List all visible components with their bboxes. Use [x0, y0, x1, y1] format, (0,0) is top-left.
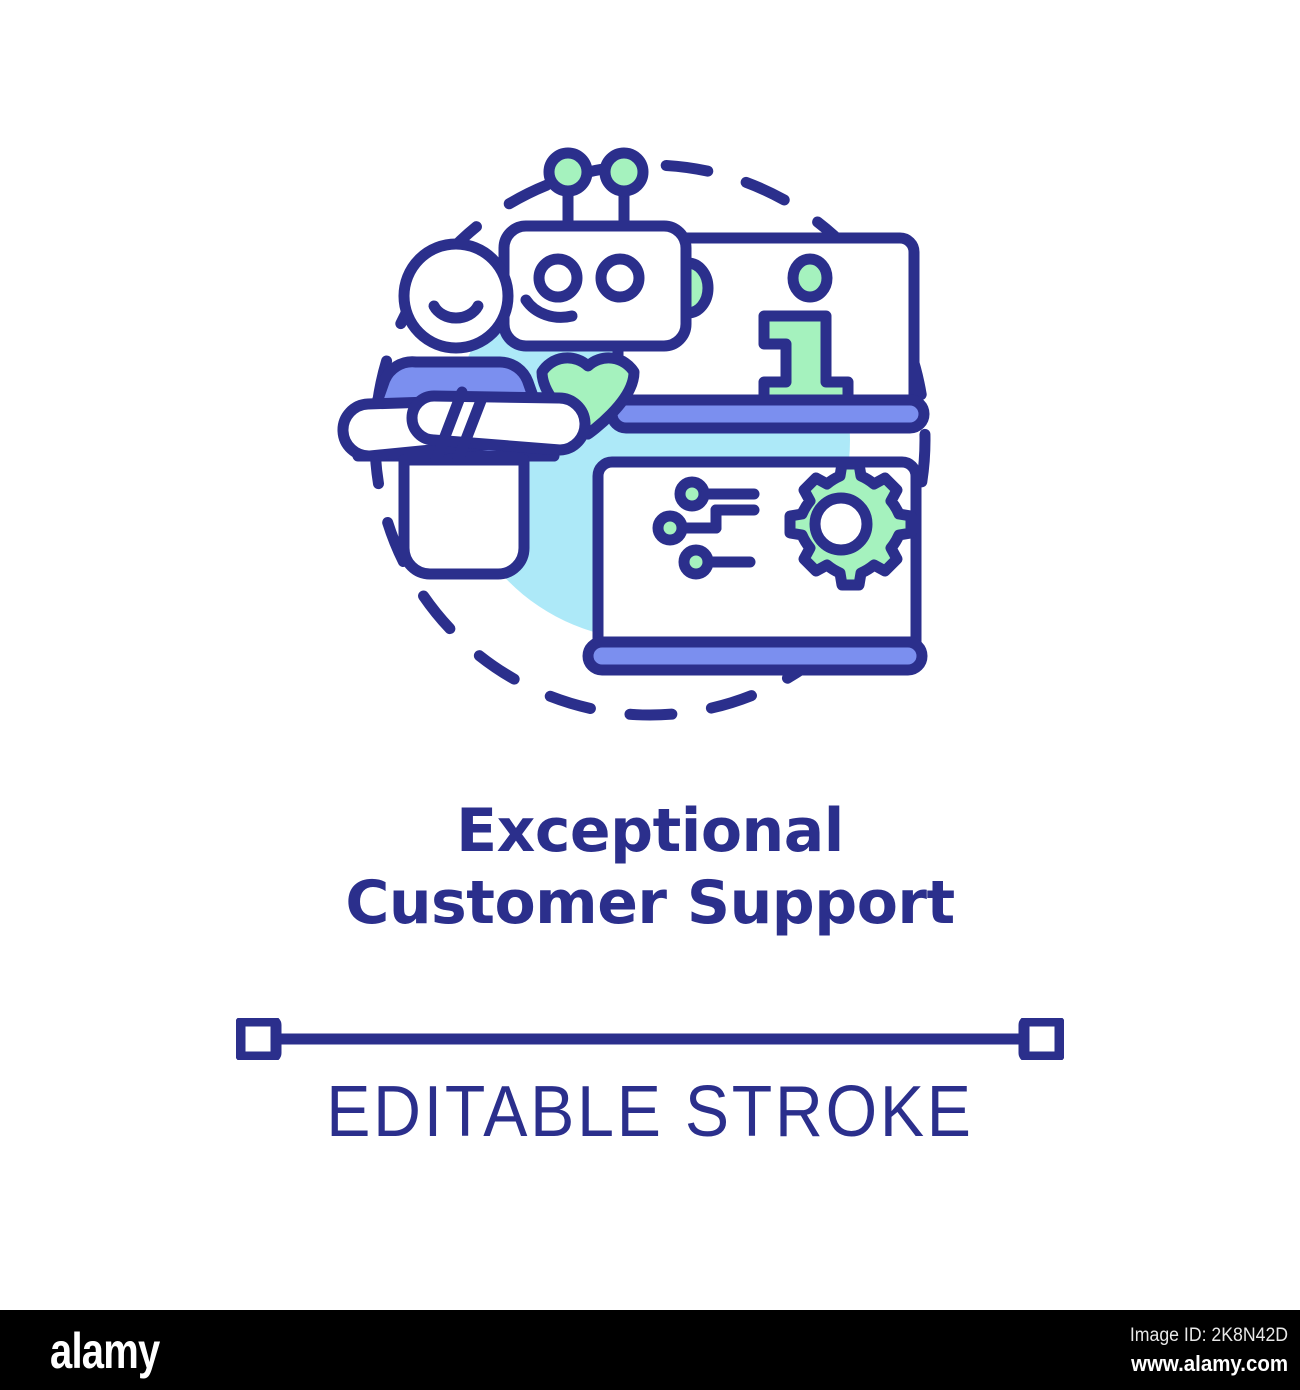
- stroke-width-indicator: [236, 1018, 1064, 1060]
- alamy-watermark-bar: alamy Image ID: 2K8N42D www.alamy.com: [0, 1310, 1300, 1390]
- concept-illustration: .ln { fill:none; stroke:#2B2F8C; stroke-…: [330, 120, 970, 760]
- alamy-url: www.alamy.com: [1130, 1349, 1288, 1379]
- shopping-bag: [404, 460, 524, 574]
- person-head: [404, 244, 508, 348]
- image-id-label: Image ID: 2K8N42D: [1130, 1323, 1288, 1349]
- title-line-1: Exceptional: [0, 795, 1300, 867]
- info-laptop-base: [612, 400, 924, 428]
- stroke-handle-left: [240, 1021, 276, 1057]
- settings-laptop: [588, 462, 922, 670]
- gear-icon: [790, 464, 911, 585]
- concept-title: Exceptional Customer Support: [0, 795, 1300, 939]
- robot-eye-left: [539, 259, 577, 297]
- editable-stroke-caption: EDITABLE STROKE: [0, 1072, 1300, 1152]
- alamy-logo: alamy: [50, 1326, 159, 1376]
- antenna-left-bulb: [549, 153, 587, 191]
- antenna-right-bulb: [605, 153, 643, 191]
- footer-right-group: Image ID: 2K8N42D www.alamy.com: [1118, 1323, 1288, 1379]
- chatbot-robot: [482, 153, 708, 346]
- stroke-handle-right: [1024, 1021, 1060, 1057]
- robot-head: [504, 226, 686, 346]
- robot-eye-right: [601, 259, 639, 297]
- illustration-canvas: .ln { fill:none; stroke:#2B2F8C; stroke-…: [0, 0, 1300, 1310]
- title-line-2: Customer Support: [0, 867, 1300, 939]
- settings-laptop-base: [588, 642, 922, 670]
- caption-text: EDITABLE STROKE: [52, 1072, 1248, 1152]
